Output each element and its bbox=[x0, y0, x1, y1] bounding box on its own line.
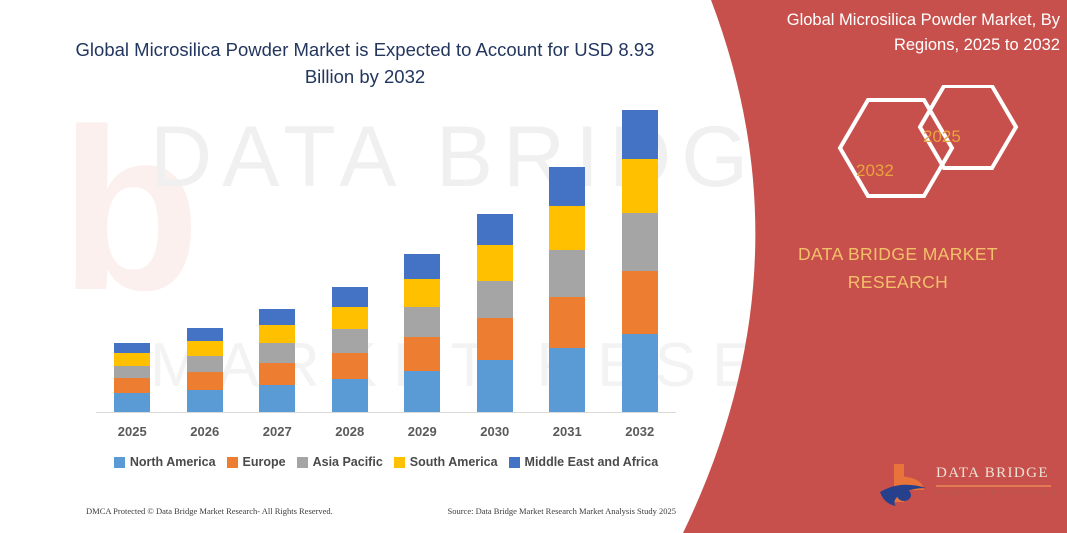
x-axis-label-2031: 2031 bbox=[531, 424, 604, 439]
bar-segment bbox=[187, 390, 223, 412]
chart-panel: Global Microsilica Powder Market is Expe… bbox=[0, 0, 720, 533]
bar-column bbox=[531, 100, 604, 412]
stacked-bar-2031 bbox=[549, 167, 585, 412]
bar-segment bbox=[259, 309, 295, 325]
bar-segment bbox=[622, 334, 658, 412]
bar-column bbox=[96, 100, 169, 412]
bar-segment bbox=[259, 385, 295, 412]
x-axis-label-2032: 2032 bbox=[604, 424, 677, 439]
stacked-bar-chart bbox=[96, 100, 676, 412]
bar-segment bbox=[332, 287, 368, 307]
footer: DMCA Protected © Data Bridge Market Rese… bbox=[86, 506, 676, 516]
x-axis-label-2025: 2025 bbox=[96, 424, 169, 439]
stacked-bar-2032 bbox=[622, 110, 658, 412]
hexagon-2032-outline bbox=[840, 100, 952, 196]
bar-segment bbox=[477, 214, 513, 245]
bar-column bbox=[604, 100, 677, 412]
bar-column bbox=[314, 100, 387, 412]
bar-column bbox=[459, 100, 532, 412]
bar-segment bbox=[404, 254, 440, 279]
legend-label: South America bbox=[410, 455, 498, 469]
x-axis-labels: 20252026202720282029203020312032 bbox=[96, 424, 676, 439]
bar-segment bbox=[622, 271, 658, 334]
bar-segment bbox=[114, 343, 150, 354]
x-axis-line bbox=[96, 412, 676, 413]
bar-segment bbox=[332, 307, 368, 329]
bar-segment bbox=[477, 245, 513, 280]
legend-item[interactable]: Asia Pacific bbox=[297, 455, 383, 469]
legend-item[interactable]: North America bbox=[114, 455, 216, 469]
stacked-bar-2030 bbox=[477, 214, 513, 412]
bar-segment bbox=[332, 379, 368, 412]
bar-segment bbox=[187, 341, 223, 356]
bar-segment bbox=[404, 337, 440, 371]
logo-bridge-icon bbox=[878, 462, 934, 512]
stacked-bar-2028 bbox=[332, 287, 368, 412]
legend-swatch-icon bbox=[297, 457, 308, 468]
legend-swatch-icon bbox=[509, 457, 520, 468]
legend-label: Europe bbox=[243, 455, 286, 469]
panel-title: Global Microsilica Powder Market, By Reg… bbox=[735, 8, 1060, 58]
x-axis-label-2029: 2029 bbox=[386, 424, 459, 439]
hexagon-2032-label: 2032 bbox=[856, 161, 894, 181]
legend-item[interactable]: Europe bbox=[227, 455, 286, 469]
bar-segment bbox=[114, 366, 150, 379]
legend-label: North America bbox=[130, 455, 216, 469]
legend-swatch-icon bbox=[114, 457, 125, 468]
bar-segment bbox=[114, 378, 150, 393]
logo-subtitle: MARKET RESEARCH bbox=[936, 488, 1059, 497]
bar-segment bbox=[549, 250, 585, 297]
bar-column bbox=[386, 100, 459, 412]
bar-segment bbox=[477, 360, 513, 412]
bar-segment bbox=[622, 110, 658, 159]
hexagon-2025-label: 2025 bbox=[923, 127, 961, 147]
bar-segment bbox=[404, 307, 440, 337]
bar-column bbox=[241, 100, 314, 412]
hexagon-outlines bbox=[810, 85, 1067, 215]
bar-segment bbox=[549, 348, 585, 412]
chart-title: Global Microsilica Powder Market is Expe… bbox=[60, 36, 670, 90]
bar-segment bbox=[404, 279, 440, 307]
bar-segment bbox=[114, 393, 150, 412]
legend-item[interactable]: Middle East and Africa bbox=[509, 455, 659, 469]
chart-legend: North AmericaEuropeAsia PacificSouth Ame… bbox=[96, 455, 676, 469]
bar-segment bbox=[622, 213, 658, 271]
bar-segment bbox=[187, 356, 223, 372]
bar-segment bbox=[187, 372, 223, 390]
company-logo: DATA BRIDGE MARKET RESEARCH bbox=[878, 462, 1063, 514]
x-axis-label-2028: 2028 bbox=[314, 424, 387, 439]
bar-segment bbox=[114, 353, 150, 365]
legend-label: Middle East and Africa bbox=[525, 455, 659, 469]
infographic-root: b DATA BRIDGE MARKET RESEARCH Global Mic… bbox=[0, 0, 1067, 533]
bar-segment bbox=[404, 371, 440, 412]
bar-segment bbox=[259, 325, 295, 343]
bar-column bbox=[169, 100, 242, 412]
logo-title: DATA BRIDGE bbox=[936, 465, 1049, 482]
legend-label: Asia Pacific bbox=[313, 455, 383, 469]
bar-segment bbox=[187, 328, 223, 341]
bar-segment bbox=[477, 318, 513, 360]
x-axis-label-2030: 2030 bbox=[459, 424, 532, 439]
bar-segment bbox=[477, 281, 513, 319]
legend-swatch-icon bbox=[394, 457, 405, 468]
red-panel-content: Global Microsilica Powder Market, By Reg… bbox=[730, 0, 1067, 533]
footer-source: Source: Data Bridge Market Research Mark… bbox=[447, 506, 676, 516]
bar-segment bbox=[549, 167, 585, 206]
stacked-bar-2026 bbox=[187, 328, 223, 412]
stacked-bar-2027 bbox=[259, 309, 295, 412]
brand-name: DATA BRIDGE MARKET RESEARCH bbox=[748, 240, 1048, 296]
x-axis-label-2026: 2026 bbox=[169, 424, 242, 439]
legend-swatch-icon bbox=[227, 457, 238, 468]
bar-segment bbox=[259, 363, 295, 385]
bar-segment bbox=[622, 159, 658, 213]
footer-copyright: DMCA Protected © Data Bridge Market Rese… bbox=[86, 506, 333, 516]
bar-segment bbox=[259, 343, 295, 362]
hexagon-badges bbox=[810, 85, 1067, 215]
bar-segment bbox=[332, 353, 368, 379]
logo-divider bbox=[936, 485, 1051, 487]
stacked-bar-2025 bbox=[114, 343, 150, 412]
legend-item[interactable]: South America bbox=[394, 455, 498, 469]
x-axis-label-2027: 2027 bbox=[241, 424, 314, 439]
bar-segment bbox=[549, 206, 585, 250]
stacked-bar-2029 bbox=[404, 254, 440, 412]
bar-segment bbox=[549, 297, 585, 348]
bar-segment bbox=[332, 329, 368, 353]
